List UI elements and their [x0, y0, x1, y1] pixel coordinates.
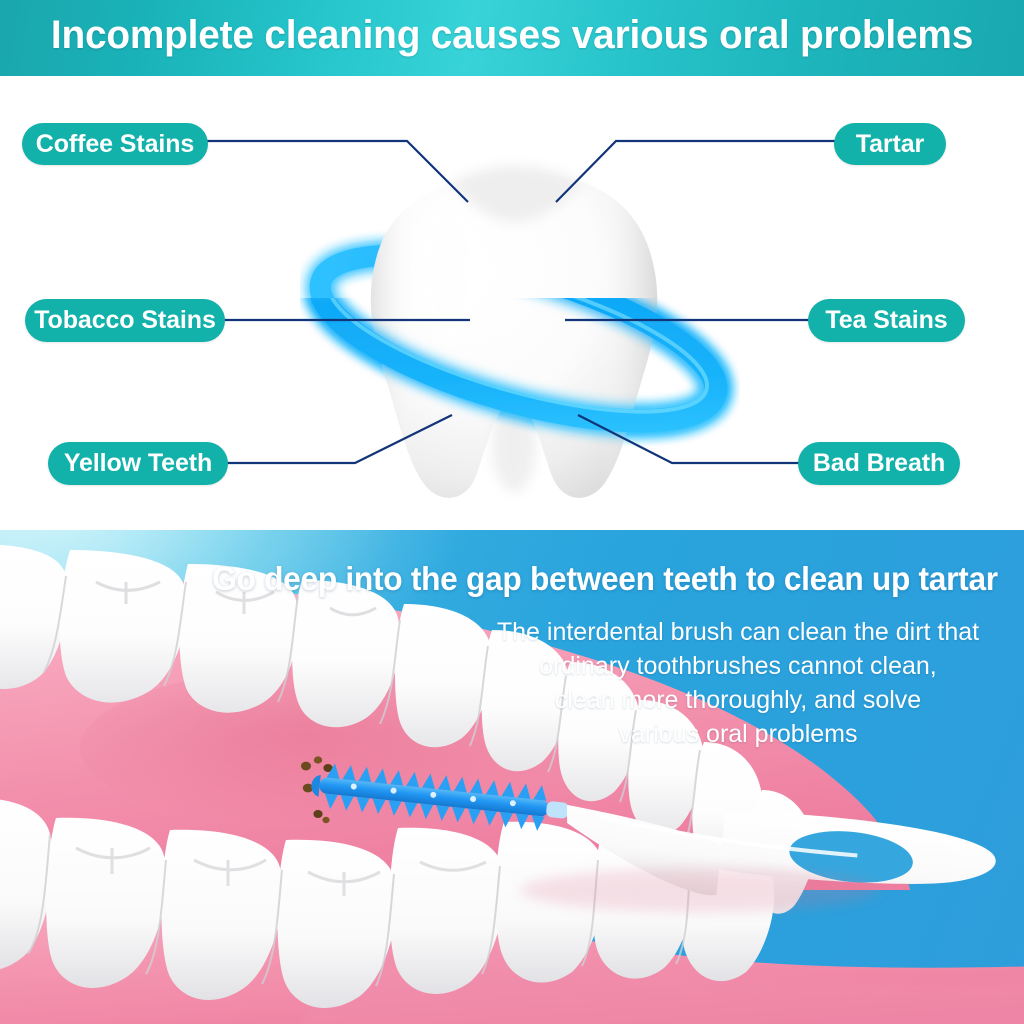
body-line-1: The interdental brush can clean the dirt… — [460, 615, 1016, 649]
bottom-section-title: Go deep into the gap between teeth to cl… — [203, 560, 1007, 598]
callout-tea-stains[interactable]: Tea Stains — [808, 299, 965, 342]
top-section: Incomplete cleaning causes various oral … — [0, 0, 1024, 530]
molar-tooth-shape — [371, 166, 657, 498]
tooth-illustration — [300, 150, 740, 510]
callout-bad-breath[interactable]: Bad Breath — [798, 442, 960, 485]
callout-coffee-stains[interactable]: Coffee Stains — [22, 123, 208, 165]
callout-tartar[interactable]: Tartar — [834, 123, 946, 165]
body-line-2: ordinary toothbrushes cannot clean, — [460, 649, 1016, 683]
callout-tobacco-stains[interactable]: Tobacco Stains — [25, 299, 225, 342]
body-line-3: clean more thoroughly, and solve — [460, 683, 1016, 717]
infographic-page: Incomplete cleaning causes various oral … — [0, 0, 1024, 1024]
mouth-illustration — [0, 530, 1024, 1024]
callout-yellow-teeth[interactable]: Yellow Teeth — [48, 442, 228, 485]
page-title: Incomplete cleaning causes various oral … — [15, 13, 1008, 58]
body-line-4: various oral problems — [460, 717, 1016, 751]
bottom-section-body: The interdental brush can clean the dirt… — [460, 615, 1016, 751]
